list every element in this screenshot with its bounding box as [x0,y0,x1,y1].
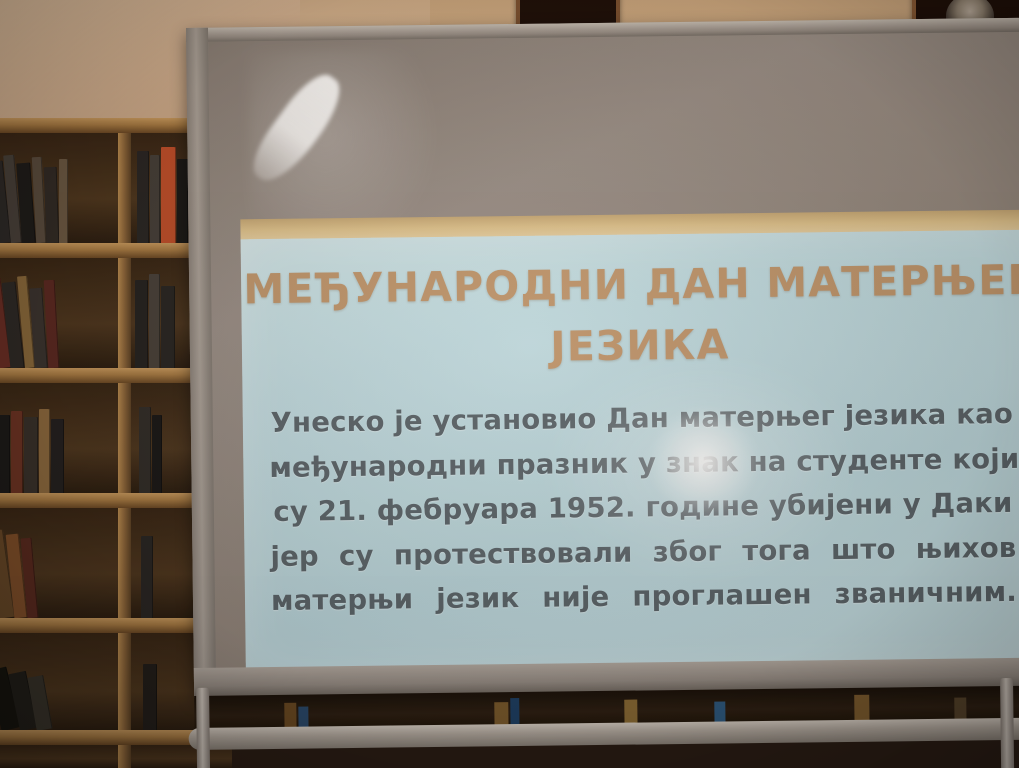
bookcase-divider [118,118,131,768]
slide-title: МЕЂУНАРОДНИ ДАН МАТЕРЊЕГ ЈЕЗИКА [241,250,1019,381]
book [161,286,175,368]
slide-body: Унеско је установио Дан матерњег језика … [269,392,1018,624]
photo-scene: МЕЂУНАРОДНИ ДАН МАТЕРЊЕГ ЈЕЗИКА Унеско ј… [0,0,1019,768]
slide-title-line-1: МЕЂУНАРОДНИ ДАН [243,259,751,313]
bookcase-cell [0,633,118,730]
book [854,695,869,722]
slide-body-line-5: матерњи језик није проглашен званичним. [271,570,1017,624]
book [39,409,50,493]
book [150,155,160,243]
book [143,664,157,730]
bookcase-cell [0,745,118,768]
book [141,536,153,618]
whiteboard-leg-left [196,688,210,768]
whiteboard-frame: МЕЂУНАРОДНИ ДАН МАТЕРЊЕГ ЈЕЗИКА Унеско ј… [186,18,1019,696]
whiteboard-surface: МЕЂУНАРОДНИ ДАН МАТЕРЊЕГ ЈЕЗИКА Унеско ј… [208,32,1019,696]
whiteboard-leg-right [1000,678,1014,768]
book [24,417,38,493]
book [11,411,23,493]
book [51,419,64,493]
book [59,159,68,243]
book [44,167,60,243]
bookcase-cell [0,133,118,243]
book [954,698,966,721]
book [298,707,308,729]
book [161,147,176,243]
bookcase-cell [0,508,118,618]
bookcase-cell [0,258,118,368]
whiteboard-assembly: МЕЂУНАРОДНИ ДАН МАТЕРЊЕГ ЈЕЗИКА Унеско ј… [186,18,1019,728]
book [139,407,151,493]
book [149,274,160,368]
book [714,701,725,723]
book [284,703,296,729]
projected-slide: МЕЂУНАРОДНИ ДАН МАТЕРЊЕГ ЈЕЗИКА Унеско ј… [241,230,1019,680]
book [177,159,188,243]
book [137,151,149,243]
bookcase-cell [0,383,118,493]
book [135,280,148,368]
book [0,415,10,493]
book [510,698,519,726]
book [152,415,162,493]
book [624,700,637,725]
book [494,702,508,726]
